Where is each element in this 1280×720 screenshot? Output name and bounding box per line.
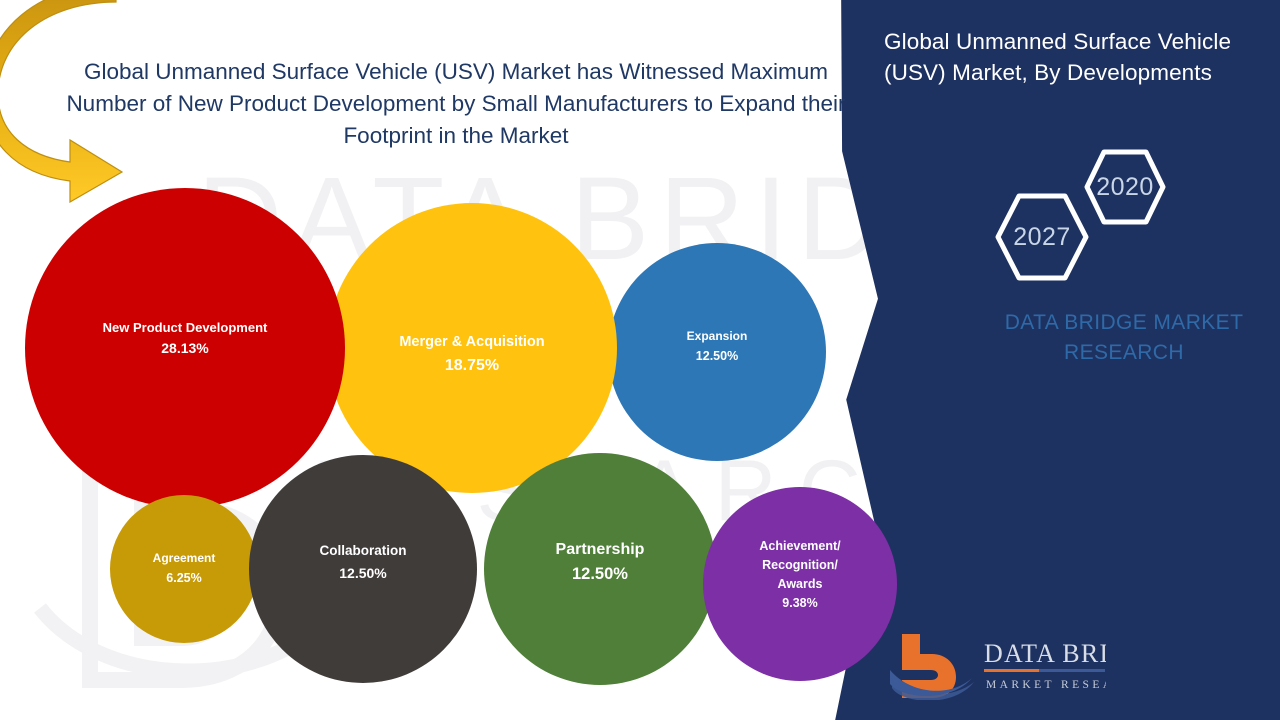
bubble-value: 9.38% [759, 594, 840, 613]
infographic-canvas: DATA BRIDGE RESEARCH Global Unmanned Sur… [0, 0, 1280, 720]
bubble-new-product-development[interactable]: New Product Development 28.13% [25, 188, 345, 508]
bubble-value: 12.50% [556, 562, 645, 587]
hexagon-2020: 2020 [1083, 148, 1167, 226]
hexagon-2027: 2027 [994, 192, 1090, 282]
logo-name: DATA BRIDGE [984, 639, 1106, 668]
bubble-label: New Product Development [103, 317, 268, 338]
bubble-value: 28.13% [103, 338, 268, 359]
bubble-value: 12.50% [320, 562, 407, 584]
bubble-collaboration[interactable]: Collaboration 12.50% [249, 455, 477, 683]
right-panel-title: Global Unmanned Surface Vehicle (USV) Ma… [884, 26, 1266, 88]
bubble-label: Merger & Acquisition [399, 331, 544, 354]
bubble-label: Achievement/Recognition/Awards [759, 537, 840, 594]
bubble-value: 18.75% [399, 354, 544, 377]
bubble-label: Agreement [153, 548, 216, 568]
bubble-partnership[interactable]: Partnership 12.50% [484, 453, 716, 685]
bubble-value: 6.25% [153, 568, 216, 588]
hexagon-2027-label: 2027 [994, 192, 1090, 282]
data-bridge-logo-icon: DATA BRIDGE MARKET RESEARCH [888, 628, 1106, 700]
right-panel-brand-line2: RESEARCH [1064, 341, 1184, 364]
page-title: Global Unmanned Surface Vehicle (USV) Ma… [46, 56, 866, 152]
bubble-agreement[interactable]: Agreement 6.25% [110, 495, 258, 643]
bubble-merger-acquisition[interactable]: Merger & Acquisition 18.75% [327, 203, 617, 493]
bubble-value: 12.50% [687, 346, 748, 366]
bubble-expansion[interactable]: Expansion 12.50% [608, 243, 826, 461]
bubble-label: Partnership [556, 537, 645, 562]
bubble-achievement-recognition-awards[interactable]: Achievement/Recognition/Awards 9.38% [703, 487, 897, 681]
bubble-label: Collaboration [320, 540, 407, 562]
right-panel-brand: DATA BRIDGE MARKET RESEARCH [978, 308, 1270, 368]
bubble-label: Expansion [687, 326, 748, 346]
right-panel-brand-line1: DATA BRIDGE MARKET [1005, 311, 1244, 334]
data-bridge-logo: DATA BRIDGE MARKET RESEARCH [888, 628, 1106, 700]
hexagon-2020-label: 2020 [1083, 148, 1167, 226]
logo-tagline: MARKET RESEARCH [986, 679, 1106, 691]
